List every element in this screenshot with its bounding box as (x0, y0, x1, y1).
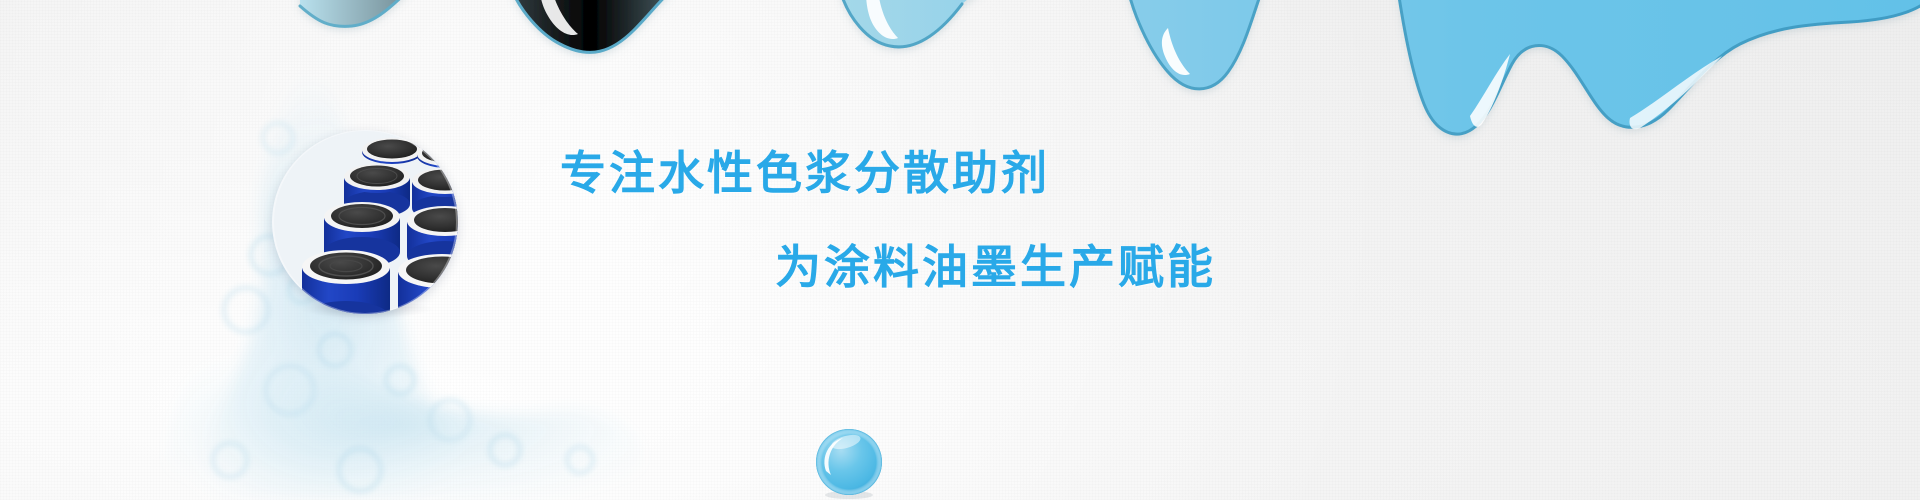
product-photo-circle (272, 130, 458, 314)
headline-line-1: 专注水性色浆分散助剂 (560, 150, 1460, 196)
headline-block: 专注水性色浆分散助剂 为涂料油墨生产赋能 (560, 150, 1460, 290)
glossy-blue-bubble (813, 427, 885, 499)
hero-banner: 专注水性色浆分散助剂 为涂料油墨生产赋能 (0, 0, 1920, 500)
headline-line-2: 为涂料油墨生产赋能 (775, 244, 1460, 290)
dripping-liquid-shape (0, 0, 1920, 150)
